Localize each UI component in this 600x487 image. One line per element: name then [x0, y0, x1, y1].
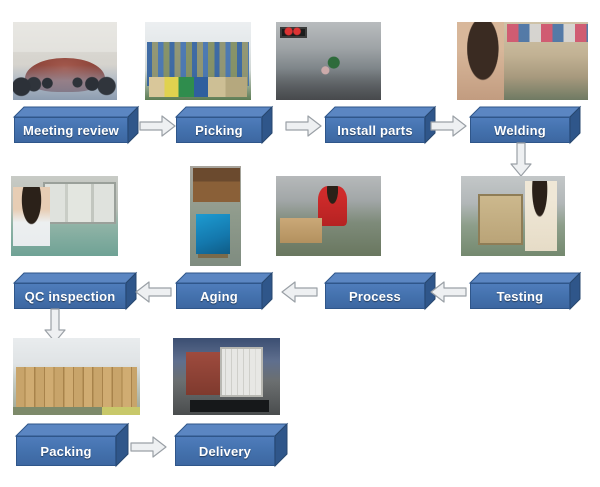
- process-step-face: Delivery: [175, 436, 275, 466]
- connector-install-to-welding: [431, 115, 467, 137]
- connector-process-to-aging: [282, 281, 318, 303]
- process-step-face: QC inspection: [14, 283, 126, 309]
- process-step-testing[interactable]: Testing: [470, 273, 580, 309]
- delivery-truck-wheels: [190, 400, 269, 412]
- packing-crates-photo: [13, 338, 140, 415]
- meeting-room-photo: [13, 22, 117, 100]
- assembly-floor-photo-detail: [276, 22, 381, 100]
- process-step-face: Aging: [176, 283, 262, 309]
- process-step-meeting-review[interactable]: Meeting review: [14, 107, 138, 143]
- process-step-delivery[interactable]: Delivery: [175, 424, 287, 466]
- connector-packing-to-delivery: [131, 436, 167, 458]
- process-step-aging[interactable]: Aging: [176, 273, 272, 309]
- process-flow-diagram: Meeting review Picking Install parts Wel…: [0, 0, 600, 487]
- welding-worker-photo: [457, 22, 588, 100]
- process-step-qc-inspection[interactable]: QC inspection: [14, 273, 136, 309]
- process-step-face: Welding: [470, 117, 570, 143]
- process-step-label: Meeting review: [23, 123, 119, 138]
- connector-meeting-to-picking: [140, 115, 176, 137]
- process-step-install-parts[interactable]: Install parts: [325, 107, 435, 143]
- process-step-face: Picking: [176, 117, 262, 143]
- process-step-label: Install parts: [337, 123, 413, 138]
- connector-aging-to-qc: [136, 281, 172, 303]
- warehouse-shelves-photo: [145, 22, 251, 100]
- process-step-face: Packing: [16, 436, 116, 466]
- process-step-label: Testing: [497, 289, 544, 304]
- process-step-label: Delivery: [199, 444, 251, 459]
- process-step-label: Process: [349, 289, 401, 304]
- process-step-label: Packing: [40, 444, 91, 459]
- testing-cabinet-photo: [461, 176, 565, 256]
- process-worker-photo: [276, 176, 381, 256]
- qc-bench-photo: [11, 176, 118, 256]
- process-step-label: Aging: [200, 289, 238, 304]
- connector-picking-to-install: [286, 115, 322, 137]
- process-step-welding[interactable]: Welding: [470, 107, 580, 143]
- process-step-face: Meeting review: [14, 117, 128, 143]
- process-step-face: Process: [325, 283, 425, 309]
- process-step-process[interactable]: Process: [325, 273, 435, 309]
- process-step-picking[interactable]: Picking: [176, 107, 272, 143]
- connector-welding-to-testing: [510, 143, 532, 177]
- process-step-label: Welding: [494, 123, 546, 138]
- aging-rig-photo: [190, 166, 241, 266]
- process-step-face: Install parts: [325, 117, 425, 143]
- assembly-floor-photo: [276, 22, 381, 100]
- delivery-truck-photo: [173, 338, 280, 415]
- process-step-label: Picking: [195, 123, 243, 138]
- process-step-label: QC inspection: [25, 289, 116, 304]
- process-step-face: Testing: [470, 283, 570, 309]
- connector-testing-to-process: [431, 281, 467, 303]
- process-step-packing[interactable]: Packing: [16, 424, 128, 466]
